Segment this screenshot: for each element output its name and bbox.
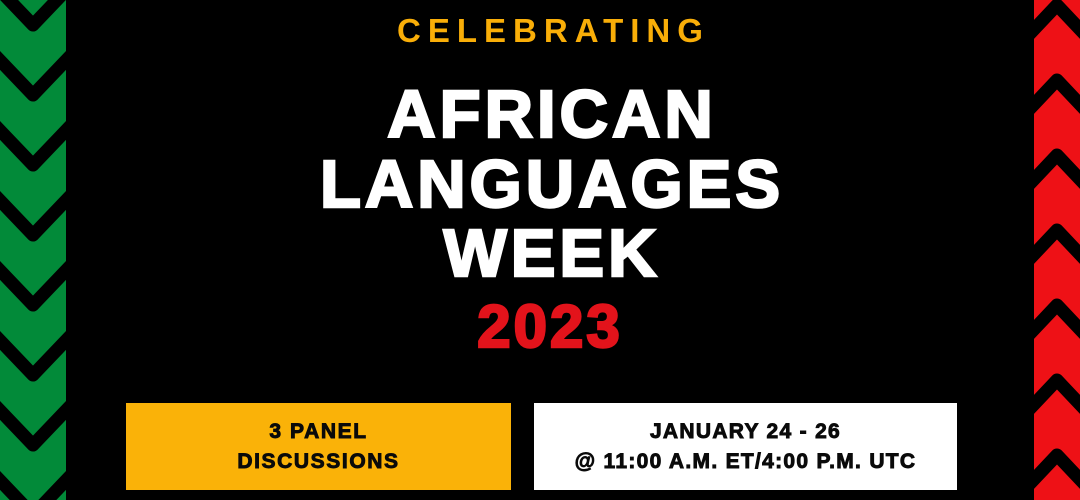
title-line-3: WEEK	[70, 221, 1034, 287]
dates-line-1: JANUARY 24 - 26	[650, 417, 841, 447]
panel-discussions-box: 3 PANEL DISCUSSIONS	[126, 403, 511, 490]
chevron-down-icon	[0, 0, 66, 500]
dates-box: JANUARY 24 - 26 @ 11:00 A.M. ET/4:00 P.M…	[534, 403, 957, 490]
title-line-2: LANGUAGES	[70, 152, 1034, 218]
banner-content: CELEBRATING AFRICAN LANGUAGES WEEK 2023 …	[66, 0, 1034, 500]
green-chevron-stripe	[0, 0, 66, 500]
red-chevron-stripe	[1034, 0, 1080, 500]
african-languages-week-banner: CELEBRATING AFRICAN LANGUAGES WEEK 2023 …	[0, 0, 1080, 500]
year-text: 2023	[66, 297, 1034, 357]
chevron-up-icon	[1034, 5, 1080, 490]
eyebrow-text: CELEBRATING	[73, 14, 1034, 47]
panel-discussions-line-2: DISCUSSIONS	[237, 447, 399, 477]
title-line-1: AFRICAN	[70, 82, 1034, 148]
info-box-row: 3 PANEL DISCUSSIONS JANUARY 24 - 26 @ 11…	[66, 390, 1034, 500]
panel-discussions-line-1: 3 PANEL	[269, 417, 367, 447]
dates-line-2: @ 11:00 A.M. ET/4:00 P.M. UTC	[575, 447, 917, 477]
headline-block: CELEBRATING AFRICAN LANGUAGES WEEK 2023	[66, 14, 1034, 357]
